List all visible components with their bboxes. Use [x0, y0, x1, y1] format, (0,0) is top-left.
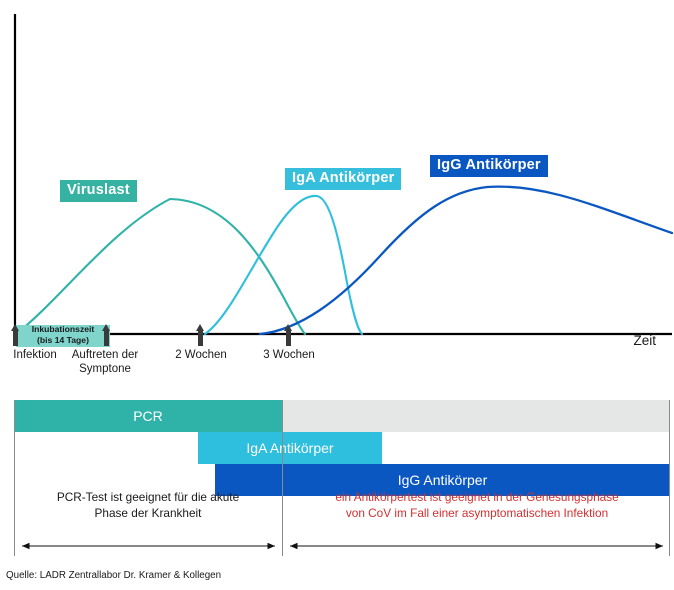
tick-arrow-infektion	[11, 324, 20, 346]
bar-iga[interactable]: IgA Antikörper	[198, 432, 382, 464]
panel-middle-boundary	[282, 400, 283, 556]
curve-iga	[205, 196, 362, 334]
source-caption: Quelle: LADR Zentrallabor Dr. Kramer & K…	[6, 570, 221, 581]
bar-iga-label: IgA Antikörper	[246, 440, 333, 456]
antibody-curve-chart: Viruslast IgA Antikörper IgG Antikörper …	[0, 0, 674, 385]
tick-arrow-3-wochen	[284, 324, 293, 346]
tick-arrow-symptome	[102, 324, 111, 346]
bar-pcr[interactable]: PCR	[14, 400, 282, 432]
note-pcr-line1: PCR-Test ist geeignet für die akute	[14, 489, 282, 505]
infographic-root: Viruslast IgA Antikörper IgG Antikörper …	[0, 0, 674, 590]
incubation-line-2: (bis 14 Tage)	[16, 335, 110, 346]
series-label-igg: IgG Antikörper	[430, 155, 548, 177]
pcr-row-track	[282, 400, 670, 432]
note-pcr-line2: Phase der Krankheit	[14, 505, 282, 521]
range-arrows-svg	[0, 538, 674, 568]
note-antibody-line1: ein Antikörpertest ist geeignet in der G…	[284, 489, 670, 505]
note-pcr: PCR-Test ist geeignet für die akute Phas…	[14, 489, 282, 521]
curve-viruslast	[16, 199, 305, 334]
tick-label-symptome-line1: Auftreten der	[55, 349, 155, 363]
tick-label-symptome: Auftreten der Symptone	[55, 349, 155, 376]
incubation-line-1: Inkubationszeit	[16, 324, 110, 335]
bar-igg-label: IgG Antikörper	[398, 472, 488, 488]
tick-label-3-wochen: 3 Wochen	[239, 349, 339, 363]
test-suitability-panel: PCR IgA Antikörper IgG Antikörper PCR-Te…	[0, 396, 674, 556]
x-axis-title: Zeit	[633, 333, 656, 348]
panel-right-boundary	[669, 400, 670, 556]
tick-label-2-wochen: 2 Wochen	[151, 349, 251, 363]
bar-pcr-label: PCR	[133, 408, 163, 424]
panel-left-boundary	[14, 400, 15, 556]
incubation-band-text: Inkubationszeit (bis 14 Tage)	[16, 324, 110, 346]
tick-label-symptome-line2: Symptone	[55, 363, 155, 377]
tick-arrow-2-wochen	[196, 324, 205, 346]
note-antibody: ein Antikörpertest ist geeignet in der G…	[284, 489, 670, 521]
series-label-viruslast: Viruslast	[60, 180, 137, 202]
note-antibody-line2: von CoV im Fall einer asymptomatischen I…	[284, 505, 670, 521]
curve-igg	[260, 187, 672, 334]
series-label-iga: IgA Antikörper	[285, 168, 401, 190]
